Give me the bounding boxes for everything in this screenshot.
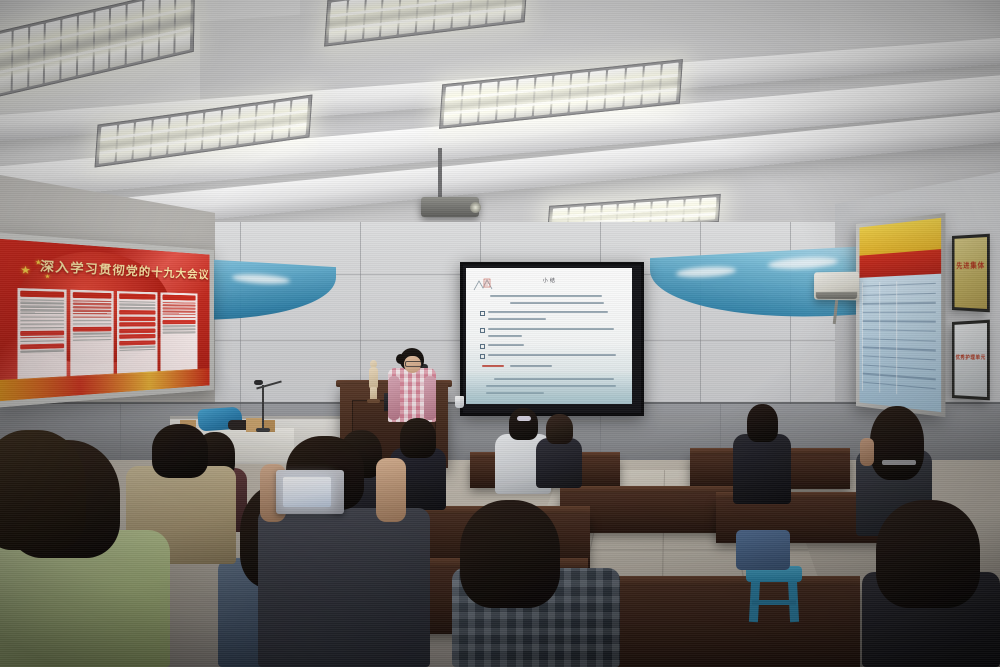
board-column xyxy=(118,291,158,375)
audience-hand xyxy=(376,458,406,522)
board-column xyxy=(18,288,67,381)
water-cup xyxy=(455,396,464,408)
certificate-silver[interactable]: 优秀护理单元 xyxy=(952,320,990,401)
audience-hand xyxy=(860,438,874,466)
certificate-gold[interactable]: 先进集体 xyxy=(952,234,990,313)
camera-lcd-screen xyxy=(283,477,331,507)
board-column xyxy=(70,290,114,378)
audience-member-blue-plaid xyxy=(452,500,620,667)
bench-desk xyxy=(600,586,860,667)
audience-member-dark-hair-left xyxy=(0,430,98,580)
projection-screen[interactable]: 小 结 xyxy=(466,268,632,404)
slide-seal-icon xyxy=(472,276,494,296)
presenter xyxy=(388,348,436,422)
board-column xyxy=(161,292,198,372)
lecture-hall-photo: 小 结 ★ ★ ★ 深入学习贯彻党的十九大会议精神 xyxy=(0,0,1000,667)
audience-member-photographer xyxy=(258,430,430,667)
audience-member-dark-coat-center xyxy=(536,414,582,488)
stool-brace xyxy=(752,600,796,605)
anatomical-figurine xyxy=(367,360,380,402)
information-poster[interactable] xyxy=(856,213,945,417)
party-propaganda-board[interactable]: ★ ★ ★ 深入学习贯彻党的十九大会议精神 xyxy=(0,232,214,408)
compact-camera[interactable] xyxy=(276,470,344,514)
eyeglasses-icon xyxy=(405,361,422,367)
audience-member-jeans xyxy=(736,530,790,570)
air-conditioner-vent xyxy=(816,292,857,299)
microphone-icon xyxy=(254,380,263,385)
microphone-stand xyxy=(262,385,264,431)
audience-member-black-blazer xyxy=(733,404,791,504)
certificate-gold-text: 先进集体 xyxy=(956,261,985,272)
projector-lens-icon xyxy=(470,202,481,213)
certificate-silver-text: 优秀护理单元 xyxy=(956,354,986,361)
jacket-stripe xyxy=(882,460,916,465)
audience-member-front-right xyxy=(862,500,1000,667)
slide-title: 小 结 xyxy=(543,277,556,284)
projector-mount xyxy=(438,148,442,198)
